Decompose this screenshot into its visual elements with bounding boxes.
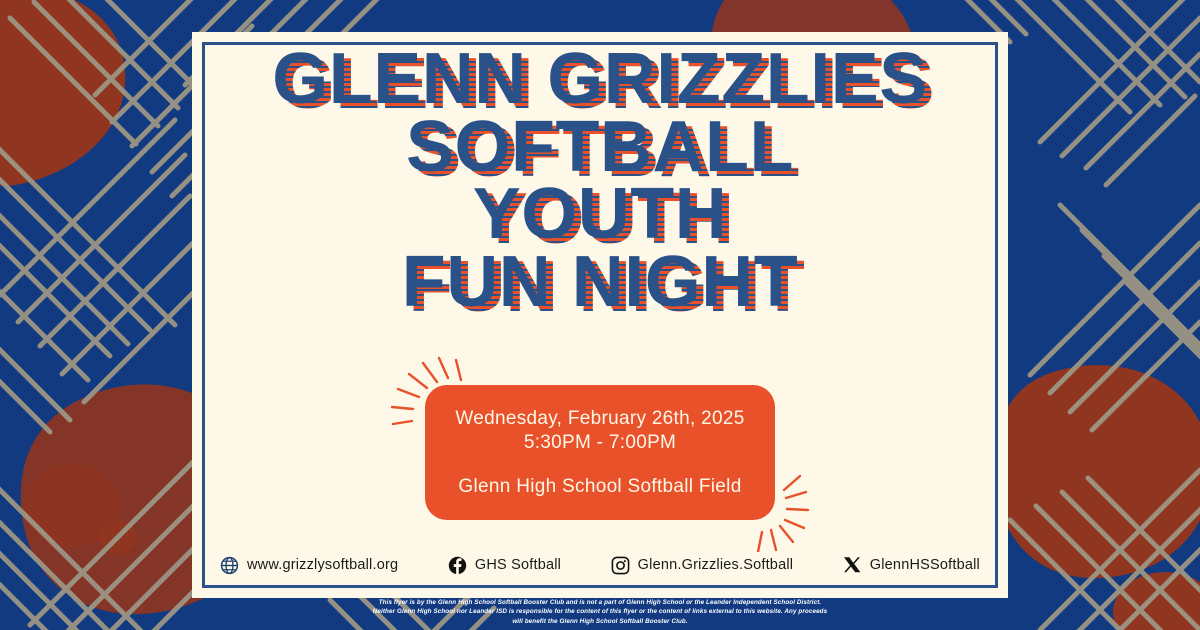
- headline-line-2: SOFTBALL SOFTBALL SOFTBALL: [0, 114, 1200, 182]
- event-details-box: Wednesday, February 26th, 2025 5:30PM - …: [425, 385, 775, 520]
- social-label-x: GlennHSSoftball: [870, 557, 980, 573]
- social-link-facebook[interactable]: GHS Softball: [448, 556, 561, 575]
- headline-line-4: FUN NIGHT FUN NIGHT FUN NIGHT: [0, 249, 1200, 317]
- disclaimer-line-2: Neither Glenn High School nor Leander IS…: [250, 607, 950, 616]
- event-location: Glenn High School Softball Field: [458, 476, 741, 498]
- social-links-row: www.grizzlysoftball.org GHS Softball Gle…: [206, 552, 994, 578]
- disclaimer-line-1: This flyer is by the Glenn High School S…: [250, 598, 950, 607]
- headline-line-1: GLENN GRIZZLIES GLENN GRIZZLIES GLENN GR…: [0, 46, 1200, 114]
- social-link-x[interactable]: GlennHSSoftball: [843, 556, 980, 575]
- headline-line-4-text: FUN NIGHT: [402, 242, 798, 322]
- facebook-icon: [448, 556, 467, 575]
- social-label-website: www.grizzlysoftball.org: [247, 557, 398, 573]
- social-label-instagram: Glenn.Grizzlies.Softball: [638, 557, 794, 573]
- social-link-instagram[interactable]: Glenn.Grizzlies.Softball: [611, 556, 794, 575]
- disclaimer-text: This flyer is by the Glenn High School S…: [0, 598, 1200, 626]
- headline-block: GLENN GRIZZLIES GLENN GRIZZLIES GLENN GR…: [0, 46, 1200, 317]
- headline-line-3: YOUTH YOUTH YOUTH: [0, 181, 1200, 249]
- globe-icon: [220, 556, 239, 575]
- social-link-website[interactable]: www.grizzlysoftball.org: [220, 556, 398, 575]
- instagram-icon: [611, 556, 630, 575]
- x-twitter-icon: [843, 556, 862, 575]
- social-label-facebook: GHS Softball: [475, 557, 561, 573]
- event-time: 5:30PM - 7:00PM: [524, 431, 676, 455]
- disclaimer-line-3: will benefit the Glenn High School Softb…: [250, 617, 950, 626]
- event-date: Wednesday, February 26th, 2025: [455, 407, 744, 431]
